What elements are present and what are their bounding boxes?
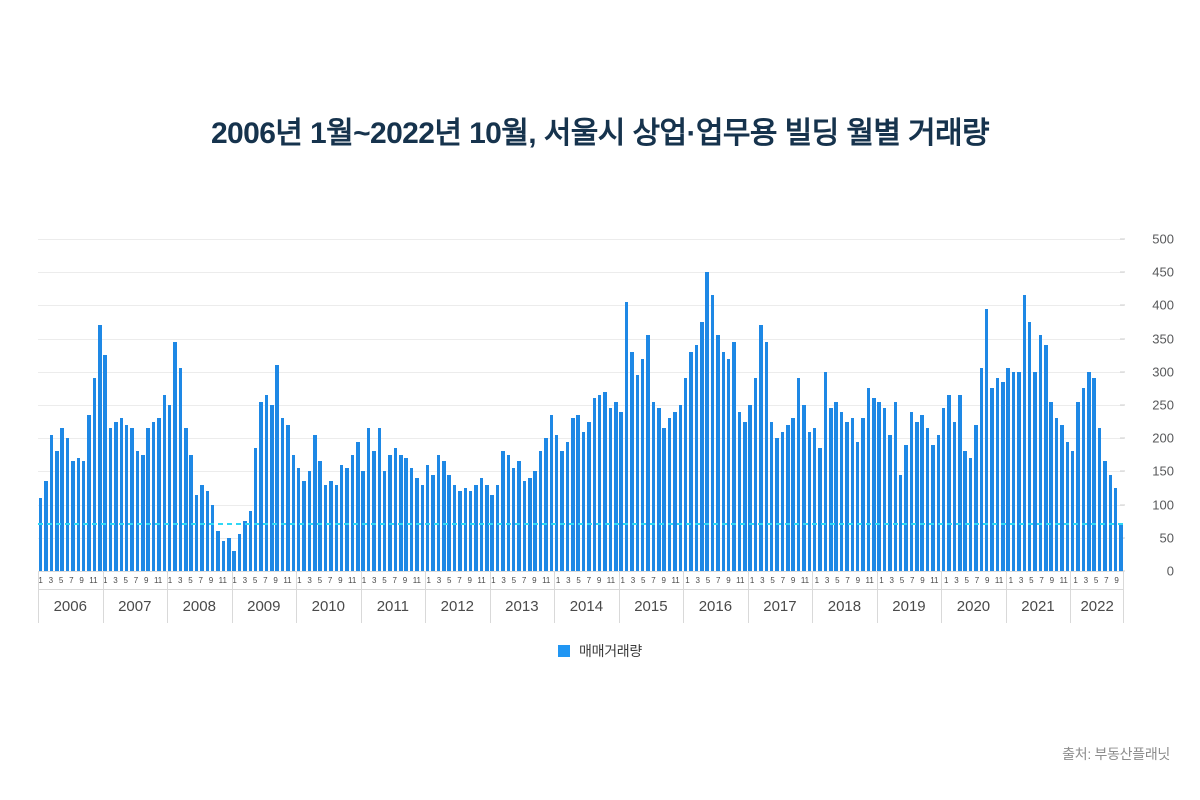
y-tick-label-250: 250 — [1128, 398, 1174, 413]
bar[interactable] — [931, 445, 934, 571]
bar[interactable] — [834, 402, 837, 571]
bar[interactable] — [679, 405, 682, 571]
x-axis: 1357911135791113579111357911135791113579… — [38, 571, 1124, 623]
bar[interactable] — [824, 372, 827, 571]
y-tick-label-100: 100 — [1128, 497, 1174, 512]
bar[interactable] — [125, 425, 128, 571]
bar[interactable] — [1119, 525, 1122, 571]
bar[interactable] — [996, 378, 999, 571]
bar[interactable] — [1001, 382, 1004, 571]
bar[interactable] — [200, 485, 203, 571]
year-divider-2019 — [877, 572, 878, 623]
year-divider-2021 — [1006, 572, 1007, 623]
bar[interactable] — [888, 435, 891, 571]
bar[interactable] — [791, 418, 794, 571]
bar[interactable] — [571, 418, 574, 571]
bar[interactable] — [1082, 388, 1085, 571]
bar[interactable] — [501, 451, 504, 571]
year-divider-2010 — [296, 572, 297, 623]
bar[interactable] — [66, 438, 69, 571]
bar[interactable] — [861, 418, 864, 571]
bar[interactable] — [754, 378, 757, 571]
month-tick-2006-11: 11 — [89, 572, 97, 589]
year-label-2014: 2014 — [554, 589, 619, 623]
bar[interactable] — [453, 485, 456, 571]
bar[interactable] — [485, 485, 488, 571]
year-label-2011: 2011 — [361, 589, 426, 623]
y-tick-label-200: 200 — [1128, 431, 1174, 446]
bar[interactable] — [1071, 451, 1074, 571]
bar[interactable] — [695, 345, 698, 571]
bar[interactable] — [732, 342, 735, 571]
bar[interactable] — [625, 302, 628, 571]
bar[interactable] — [345, 468, 348, 571]
bar[interactable] — [308, 471, 311, 571]
bar[interactable] — [974, 425, 977, 571]
bar[interactable] — [963, 451, 966, 571]
bar[interactable] — [507, 455, 510, 571]
plot-area — [38, 239, 1124, 571]
bar[interactable] — [1055, 418, 1058, 571]
bar[interactable] — [426, 465, 429, 571]
bar[interactable] — [748, 405, 751, 571]
bar[interactable] — [410, 468, 413, 571]
month-tick-2016-11: 11 — [736, 572, 744, 589]
bar[interactable] — [1076, 402, 1079, 571]
bar[interactable] — [292, 455, 295, 571]
bar[interactable] — [512, 468, 515, 571]
bar[interactable] — [216, 531, 219, 571]
bar[interactable] — [609, 408, 612, 571]
bar[interactable] — [1006, 368, 1009, 571]
bar[interactable] — [1092, 378, 1095, 571]
bar[interactable] — [82, 461, 85, 571]
year-label-2010: 2010 — [296, 589, 361, 623]
bar[interactable] — [136, 451, 139, 571]
year-divider-2009 — [232, 572, 233, 623]
y-tick-label-450: 450 — [1128, 265, 1174, 280]
bar[interactable] — [93, 378, 96, 571]
y-tick-label-50: 50 — [1128, 530, 1174, 545]
bar[interactable] — [872, 398, 875, 571]
month-tick-2015-11: 11 — [671, 572, 679, 589]
year-divider-2017 — [748, 572, 749, 623]
bar[interactable] — [195, 495, 198, 571]
year-divider-2011 — [361, 572, 362, 623]
bar[interactable] — [947, 395, 950, 571]
bar[interactable] — [920, 415, 923, 571]
bar[interactable] — [560, 451, 563, 571]
month-tick-2018-11: 11 — [866, 572, 874, 589]
bar[interactable] — [1039, 335, 1042, 571]
bar[interactable] — [883, 408, 886, 571]
bar[interactable] — [55, 451, 58, 571]
bar[interactable] — [802, 405, 805, 571]
bar[interactable] — [877, 402, 880, 571]
bar[interactable] — [646, 335, 649, 571]
bar[interactable] — [254, 448, 257, 571]
bar[interactable] — [711, 295, 714, 571]
bar[interactable] — [722, 352, 725, 571]
bar[interactable] — [265, 395, 268, 571]
year-divider-2016 — [683, 572, 684, 623]
bar[interactable] — [361, 471, 364, 571]
year-label-2009: 2009 — [232, 589, 297, 623]
bar[interactable] — [668, 418, 671, 571]
year-divider-2018 — [812, 572, 813, 623]
bar[interactable] — [926, 428, 929, 571]
year-label-2022: 2022 — [1070, 589, 1124, 623]
bar[interactable] — [464, 488, 467, 571]
bar[interactable] — [152, 422, 155, 571]
bar[interactable] — [1049, 402, 1052, 571]
page-title: 2006년 1월~2022년 10월, 서울시 상업·업무용 빌딩 월별 거래량 — [0, 108, 1200, 152]
bar[interactable] — [168, 405, 171, 571]
bar[interactable] — [367, 428, 370, 571]
bar[interactable] — [614, 402, 617, 571]
bar[interactable] — [587, 422, 590, 571]
bar[interactable] — [442, 461, 445, 571]
month-tick-2020-11: 11 — [995, 572, 1003, 589]
year-label-2013: 2013 — [490, 589, 555, 623]
bar[interactable] — [281, 418, 284, 571]
bar[interactable] — [1066, 442, 1069, 571]
bar[interactable] — [1023, 295, 1026, 571]
bar[interactable] — [189, 455, 192, 571]
bar[interactable] — [421, 485, 424, 571]
bar-series-매매거래량 — [38, 239, 1124, 571]
bar[interactable] — [845, 422, 848, 571]
bar[interactable] — [684, 378, 687, 571]
bar[interactable] — [727, 359, 730, 571]
bar[interactable] — [179, 368, 182, 571]
year-divider-start — [38, 572, 39, 623]
y-tick-label-0: 0 — [1128, 564, 1174, 579]
bar[interactable] — [44, 481, 47, 571]
bar[interactable] — [324, 485, 327, 571]
bar[interactable] — [555, 435, 558, 571]
bar[interactable] — [259, 402, 262, 571]
year-label-2015: 2015 — [619, 589, 684, 623]
bar[interactable] — [1017, 372, 1020, 571]
bar[interactable] — [539, 451, 542, 571]
bar[interactable] — [985, 309, 988, 571]
bar[interactable] — [759, 325, 762, 571]
bar[interactable] — [39, 498, 42, 571]
bar[interactable] — [1028, 322, 1031, 571]
bar[interactable] — [980, 368, 983, 571]
bar[interactable] — [243, 521, 246, 571]
year-label-2012: 2012 — [425, 589, 490, 623]
bar[interactable] — [765, 342, 768, 571]
y-tick-label-300: 300 — [1128, 364, 1174, 379]
bar[interactable] — [232, 551, 235, 571]
bar[interactable] — [851, 418, 854, 571]
bar[interactable] — [937, 435, 940, 571]
bar[interactable] — [1098, 428, 1101, 571]
bar[interactable] — [1033, 372, 1036, 571]
bar[interactable] — [120, 418, 123, 571]
bar[interactable] — [141, 455, 144, 571]
bar[interactable] — [523, 481, 526, 571]
bar[interactable] — [775, 438, 778, 571]
bar[interactable] — [1103, 461, 1106, 571]
bar[interactable] — [593, 398, 596, 571]
month-tick-2008-11: 11 — [219, 572, 227, 589]
chart-page: 2006년 1월~2022년 10월, 서울시 상업·업무용 빌딩 월별 거래량… — [0, 0, 1200, 800]
bar[interactable] — [904, 445, 907, 571]
bar[interactable] — [550, 415, 553, 571]
year-label-2008: 2008 — [167, 589, 232, 623]
bar[interactable] — [636, 375, 639, 571]
bar[interactable] — [894, 402, 897, 571]
bar[interactable] — [598, 395, 601, 571]
month-tick-row: 1357911135791113579111357911135791113579… — [38, 572, 1124, 589]
bar[interactable] — [372, 451, 375, 571]
bar[interactable] — [700, 322, 703, 571]
y-tick-label-400: 400 — [1128, 298, 1174, 313]
bar[interactable] — [356, 442, 359, 571]
bar[interactable] — [157, 418, 160, 571]
month-tick-2012-11: 11 — [477, 572, 485, 589]
bar[interactable] — [335, 485, 338, 571]
bar[interactable] — [313, 435, 316, 571]
year-divider-2013 — [490, 572, 491, 623]
bar[interactable] — [915, 422, 918, 571]
bar[interactable] — [818, 448, 821, 571]
bar[interactable] — [383, 471, 386, 571]
y-axis: 050100150200250300350400450500 — [1128, 239, 1188, 571]
bar[interactable] — [351, 455, 354, 571]
month-tick-2013-11: 11 — [542, 572, 550, 589]
y-tick-label-500: 500 — [1128, 232, 1174, 247]
year-label-2018: 2018 — [812, 589, 877, 623]
bar[interactable] — [786, 425, 789, 571]
bar[interactable] — [652, 402, 655, 571]
bar[interactable] — [249, 511, 252, 571]
bar[interactable] — [808, 432, 811, 571]
source-note: 출처: 부동산플래닛 — [1062, 744, 1170, 764]
bar[interactable] — [829, 408, 832, 571]
bar[interactable] — [630, 352, 633, 571]
bar[interactable] — [657, 408, 660, 571]
bar[interactable] — [566, 442, 569, 571]
bar[interactable] — [942, 408, 945, 571]
average-reference-line — [38, 523, 1124, 525]
y-tick-label-350: 350 — [1128, 331, 1174, 346]
bar[interactable] — [286, 425, 289, 571]
bar[interactable] — [71, 461, 74, 571]
bar[interactable] — [227, 538, 230, 571]
year-label-2019: 2019 — [877, 589, 942, 623]
bar[interactable] — [1044, 345, 1047, 571]
bar[interactable] — [689, 352, 692, 571]
bar[interactable] — [146, 428, 149, 571]
bar[interactable] — [641, 359, 644, 571]
year-divider-2015 — [619, 572, 620, 623]
year-label-2007: 2007 — [103, 589, 168, 623]
year-divider-2007 — [103, 572, 104, 623]
bar[interactable] — [87, 415, 90, 571]
bar[interactable] — [297, 468, 300, 571]
bar[interactable] — [394, 448, 397, 571]
bar[interactable] — [98, 325, 101, 571]
year-label-2020: 2020 — [941, 589, 1006, 623]
bar[interactable] — [270, 405, 273, 571]
month-tick-2014-11: 11 — [607, 572, 615, 589]
bar[interactable] — [496, 485, 499, 571]
bar[interactable] — [60, 428, 63, 571]
year-divider-2012 — [425, 572, 426, 623]
bar[interactable] — [603, 392, 606, 571]
year-label-row: 2006200720082009201020112012201320142015… — [38, 589, 1124, 623]
bar[interactable] — [705, 272, 708, 571]
bar[interactable] — [77, 458, 80, 571]
bar[interactable] — [378, 428, 381, 571]
bar[interactable] — [437, 455, 440, 571]
bar[interactable] — [1012, 372, 1015, 571]
bar[interactable] — [302, 481, 305, 571]
bar[interactable] — [990, 388, 993, 571]
month-tick-2011-11: 11 — [413, 572, 421, 589]
bar[interactable] — [544, 438, 547, 571]
bar[interactable] — [206, 491, 209, 571]
bar[interactable] — [130, 428, 133, 571]
bar[interactable] — [173, 342, 176, 571]
month-tick-2009-11: 11 — [283, 572, 291, 589]
bar[interactable] — [404, 458, 407, 571]
year-label-2016: 2016 — [683, 589, 748, 623]
bar[interactable] — [469, 491, 472, 571]
bar[interactable] — [533, 471, 536, 571]
month-tick-2010-11: 11 — [348, 572, 356, 589]
bar[interactable] — [953, 422, 956, 571]
bar[interactable] — [318, 461, 321, 571]
bar[interactable] — [840, 412, 843, 571]
bar[interactable] — [458, 491, 461, 571]
bar[interactable] — [738, 412, 741, 571]
bar[interactable] — [813, 428, 816, 571]
legend-square-marker-icon — [558, 645, 570, 657]
bar[interactable] — [490, 495, 493, 571]
bar[interactable] — [781, 432, 784, 571]
bar[interactable] — [867, 388, 870, 571]
bar[interactable] — [517, 461, 520, 571]
bar[interactable] — [340, 465, 343, 571]
bar[interactable] — [109, 428, 112, 571]
bar[interactable] — [619, 412, 622, 571]
year-divider-2022 — [1070, 572, 1071, 623]
y-tick-label-150: 150 — [1128, 464, 1174, 479]
bar[interactable] — [743, 422, 746, 571]
bar[interactable] — [275, 365, 278, 571]
bar[interactable] — [388, 455, 391, 571]
year-label-2017: 2017 — [748, 589, 813, 623]
bar[interactable] — [238, 534, 241, 571]
month-tick-2017-11: 11 — [801, 572, 809, 589]
bar[interactable] — [329, 481, 332, 571]
month-tick-2021-11: 11 — [1060, 572, 1068, 589]
bar[interactable] — [211, 505, 214, 571]
year-divider-2020 — [941, 572, 942, 623]
bar[interactable] — [969, 458, 972, 571]
year-divider-2014 — [554, 572, 555, 623]
bar[interactable] — [910, 412, 913, 571]
bar[interactable] — [797, 378, 800, 571]
bar[interactable] — [716, 335, 719, 571]
bar[interactable] — [1060, 425, 1063, 571]
bar[interactable] — [673, 412, 676, 571]
month-tick-2019-11: 11 — [930, 572, 938, 589]
bar[interactable] — [103, 355, 106, 571]
bar[interactable] — [1114, 488, 1117, 571]
legend-item-label: 매매거래량 — [579, 641, 642, 661]
year-divider-2008 — [167, 572, 168, 623]
bar[interactable] — [576, 415, 579, 571]
year-divider-end — [1123, 572, 1124, 623]
bar[interactable] — [50, 435, 53, 571]
month-tick-2007-11: 11 — [154, 572, 162, 589]
bar[interactable] — [399, 455, 402, 571]
bar[interactable] — [662, 428, 665, 571]
bar-slot — [1118, 239, 1123, 571]
bar[interactable] — [114, 422, 117, 571]
bar[interactable] — [474, 485, 477, 571]
year-label-2006: 2006 — [38, 589, 103, 623]
chart-legend: 매매거래량 — [0, 641, 1200, 661]
bar[interactable] — [958, 395, 961, 571]
bar[interactable] — [770, 422, 773, 571]
bar[interactable] — [222, 541, 225, 571]
bar[interactable] — [163, 395, 166, 571]
bar[interactable] — [1087, 372, 1090, 571]
bar[interactable] — [856, 442, 859, 571]
year-label-2021: 2021 — [1006, 589, 1071, 623]
bar[interactable] — [582, 432, 585, 571]
bar[interactable] — [184, 428, 187, 571]
